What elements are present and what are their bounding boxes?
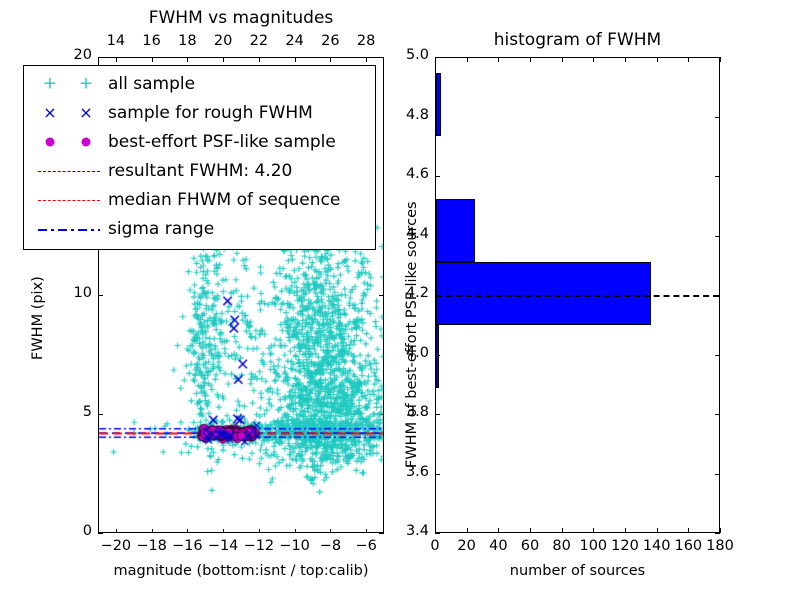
legend-marker-circle-icon: [30, 127, 108, 156]
histogram-title: histogram of FWHM: [435, 30, 720, 50]
legend-marker-dashed-icon: [30, 156, 108, 185]
legend-marker-dashed-icon: [30, 185, 108, 214]
hist-ytick-label: 4.0: [389, 345, 429, 361]
hist-ytick-label: 4.8: [389, 107, 429, 123]
figure-canvas: FWHM vs magnitudes magnitude (bottom:isn…: [0, 0, 800, 600]
hist-xtick-label: 180: [700, 538, 740, 554]
histogram-bars: [436, 58, 719, 532]
hist-ytick-label: 4.2: [389, 285, 429, 301]
axis-tick: [715, 533, 720, 534]
hist-ytick-label: 3.8: [389, 404, 429, 420]
legend-item: ××sample for rough FWHM: [30, 98, 369, 127]
legend-item-label: sample for rough FWHM: [108, 103, 313, 123]
histogram-resultant-fwhm-line: [436, 295, 719, 297]
legend-item-label: sigma range: [108, 219, 214, 239]
legend-marker-cross-icon: ××: [30, 98, 108, 127]
histogram-xlabel: number of sources: [435, 563, 720, 579]
axis-tick: [720, 57, 721, 62]
hist-ytick-label: 4.4: [389, 226, 429, 242]
legend-item-label: median FHWM of sequence: [108, 190, 340, 210]
legend-item: sigma range: [30, 214, 369, 243]
legend-item: ++all sample: [30, 69, 369, 98]
legend-marker-plus-icon: ++: [30, 69, 108, 98]
hist-ytick-label: 5.0: [389, 47, 429, 63]
legend-item-label: resultant FWHM: 4.20: [108, 161, 292, 181]
legend-item: best-effort PSF-like sample: [30, 127, 369, 156]
legend-item: resultant FWHM: 4.20: [30, 156, 369, 185]
hist-ytick-label: 4.6: [389, 166, 429, 182]
legend-marker-dashdot-icon: [30, 214, 108, 243]
hist-ytick-label: 3.4: [389, 523, 429, 539]
legend-item: median FHWM of sequence: [30, 185, 369, 214]
histogram-bar: [436, 325, 439, 388]
axis-tick: [435, 533, 440, 534]
histogram-bar: [436, 199, 475, 262]
legend-item-label: best-effort PSF-like sample: [108, 132, 336, 152]
axis-tick: [720, 528, 721, 533]
legend-item-label: all sample: [108, 74, 195, 94]
histogram-bar: [436, 262, 651, 325]
histogram-bar: [436, 73, 441, 136]
hist-ytick-label: 3.6: [389, 464, 429, 480]
plot-legend: ++all sample××sample for rough FWHMbest-…: [23, 65, 376, 250]
